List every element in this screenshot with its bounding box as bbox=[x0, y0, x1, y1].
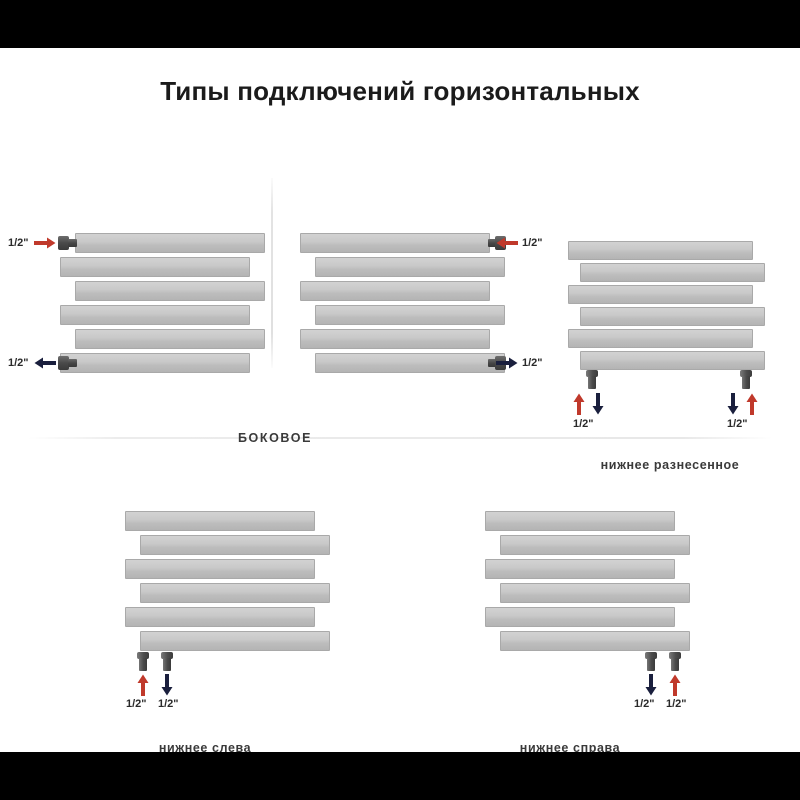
radiator-slat bbox=[580, 307, 765, 326]
radiator-slat bbox=[140, 631, 330, 651]
radiator-slat bbox=[75, 281, 265, 301]
valve-fitting-bottom-right-2 bbox=[669, 652, 681, 672]
valve-fitting-bottom-left-2 bbox=[161, 652, 173, 672]
return-arrow-down bbox=[592, 393, 604, 415]
radiator-slat bbox=[60, 353, 250, 373]
radiator-slat bbox=[125, 511, 315, 531]
radiator-slat bbox=[315, 353, 505, 373]
return-arrow-down bbox=[161, 674, 173, 696]
radiator-slat bbox=[568, 241, 753, 260]
valve-shaft bbox=[647, 658, 655, 671]
radiator-slat bbox=[500, 631, 690, 651]
radiator-slat bbox=[300, 281, 490, 301]
radiator-slat bbox=[60, 305, 250, 325]
return-arrow-left bbox=[34, 357, 56, 369]
page-title: Типы подключений горизонтальных bbox=[0, 76, 800, 107]
size-label-bottom-spaced-right: 1/2" bbox=[727, 418, 748, 430]
valve-fitting-bottom-spaced-left bbox=[586, 370, 598, 390]
radiator-slat bbox=[500, 583, 690, 603]
radiator-slat bbox=[300, 233, 490, 253]
caption-bottom-spaced: нижнее разнесенное bbox=[575, 458, 765, 472]
radiator-slat bbox=[140, 583, 330, 603]
size-label-bottom-left: 1/2" bbox=[8, 357, 29, 369]
valve-shaft bbox=[163, 658, 171, 671]
radiator-slat bbox=[300, 329, 490, 349]
supply-arrow-right bbox=[34, 237, 56, 249]
size-label-top-left: 1/2" bbox=[8, 237, 29, 249]
radiator-slat bbox=[568, 285, 753, 304]
caption-side: БОКОВОЕ bbox=[210, 431, 340, 445]
vertical-divider bbox=[271, 178, 273, 368]
radiator-slat bbox=[75, 329, 265, 349]
radiator-slat bbox=[125, 607, 315, 627]
radiator-slat bbox=[315, 305, 505, 325]
radiator-slat bbox=[75, 233, 265, 253]
size-label-bottom-left-2: 1/2" bbox=[158, 698, 179, 710]
size-label-bottom-spaced-left: 1/2" bbox=[573, 418, 594, 430]
return-arrow-right bbox=[496, 357, 518, 369]
size-label-bottom-right: 1/2" bbox=[522, 357, 543, 369]
supply-arrow-up bbox=[573, 393, 585, 415]
radiator-slat bbox=[580, 263, 765, 282]
supply-arrow-left bbox=[496, 237, 518, 249]
radiator-slat bbox=[60, 257, 250, 277]
radiator-slat bbox=[485, 511, 675, 531]
radiator-side-right bbox=[300, 233, 505, 378]
radiator-slat bbox=[125, 559, 315, 579]
valve-stem bbox=[68, 359, 77, 367]
radiator-bottom-left bbox=[125, 511, 330, 656]
valve-fitting-top-left bbox=[58, 236, 78, 250]
radiator-slat bbox=[485, 607, 675, 627]
valve-shaft bbox=[588, 376, 596, 389]
valve-fitting-bottom-left bbox=[58, 356, 78, 370]
supply-arrow-up bbox=[137, 674, 149, 696]
size-label-bottom-left-1: 1/2" bbox=[126, 698, 147, 710]
valve-fitting-bottom-left-1 bbox=[137, 652, 149, 672]
valve-fitting-bottom-right-1 bbox=[645, 652, 657, 672]
supply-arrow-up bbox=[746, 393, 758, 415]
radiator-slat bbox=[140, 535, 330, 555]
return-arrow-down bbox=[645, 674, 657, 696]
supply-arrow-up bbox=[669, 674, 681, 696]
horizontal-divider bbox=[28, 437, 772, 439]
radiator-slat bbox=[500, 535, 690, 555]
size-label-bottom-right-1: 1/2" bbox=[634, 698, 655, 710]
letterbox-bottom bbox=[0, 752, 800, 800]
return-arrow-down bbox=[727, 393, 739, 415]
valve-shaft bbox=[742, 376, 750, 389]
radiator-side-left bbox=[60, 233, 265, 378]
radiator-slat bbox=[485, 559, 675, 579]
valve-fitting-bottom-spaced-right bbox=[740, 370, 752, 390]
diagram-canvas: Типы подключений горизонтальных 1/2" bbox=[0, 48, 800, 752]
radiator-bottom-right bbox=[485, 511, 690, 656]
diagram-page: Типы подключений горизонтальных 1/2" bbox=[0, 0, 800, 800]
valve-shaft bbox=[671, 658, 679, 671]
radiator-slat bbox=[568, 329, 753, 348]
radiator-bottom-spaced bbox=[565, 241, 765, 374]
radiator-slat bbox=[580, 351, 765, 370]
letterbox-top bbox=[0, 0, 800, 48]
radiator-slat bbox=[315, 257, 505, 277]
valve-shaft bbox=[139, 658, 147, 671]
valve-stem bbox=[68, 239, 77, 247]
size-label-bottom-right-2: 1/2" bbox=[666, 698, 687, 710]
size-label-top-right: 1/2" bbox=[522, 237, 543, 249]
